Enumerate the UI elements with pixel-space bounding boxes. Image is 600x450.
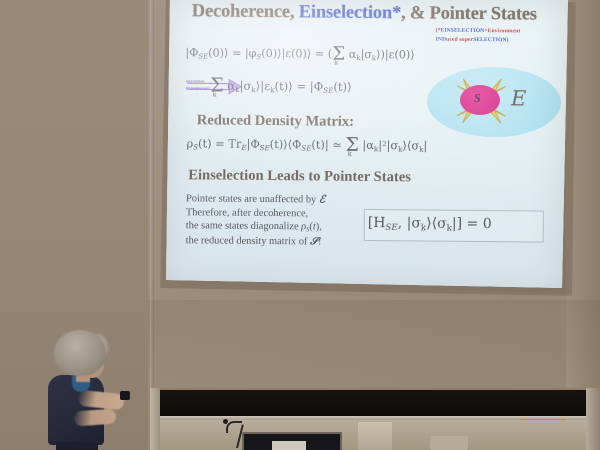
presenter-hair: [54, 330, 106, 376]
blackboard-right-post: [586, 388, 600, 450]
arrow-label-interaction: Interaction: [186, 79, 204, 83]
blackboard-left-post: [150, 388, 160, 450]
podium-equipment: [430, 436, 468, 450]
presentation-slide: Decoherence, Einselection*, & Pointer St…: [163, 0, 568, 294]
presenter-legs: [56, 442, 98, 450]
projection-screen: Decoherence, Einselection*, & Pointer St…: [166, 0, 568, 290]
heading-einselection-pointer-states: Einselection Leads to Pointer States: [188, 167, 411, 186]
wall-shadow: [148, 300, 600, 390]
microphone-head: [223, 419, 228, 424]
title-einselection: Einselection*: [299, 2, 401, 23]
podium-pillar: [358, 422, 392, 450]
slide-body-text: Pointer states are unaffected by ℰ There…: [186, 192, 387, 250]
equation-reduced-density-matrix: ρS(t) = TrE|ΦSE(t)⟩⟨ΦSE(t)| ≃ Σk |αk|2|σ…: [186, 136, 427, 154]
arrow-label-entanglement: Entanglement: [186, 86, 210, 90]
slide-title: Decoherence, Einselection*, & Pointer St…: [192, 1, 552, 25]
title-part-1: Decoherence,: [192, 1, 299, 22]
presenter-clicker: [120, 391, 130, 400]
presenter-arm-far: [74, 409, 117, 427]
presenter: [34, 330, 144, 450]
podium-monitor-screen: [272, 441, 306, 450]
footnote-selection: SELECTION): [473, 37, 509, 43]
footnote-environment: =Environment: [484, 28, 520, 34]
lecture-photo: Decoherence, Einselection*, & Pointer St…: [0, 0, 600, 450]
footnote-uced-super: uced super: [446, 36, 473, 42]
footnote-ind: IND: [436, 36, 447, 42]
title-part-2: , & Pointer States: [401, 3, 537, 24]
title-footnote: (*EINSELECTION=Environment INDuced super…: [436, 27, 568, 46]
footnote-einselection: EINSELECTION: [441, 28, 485, 34]
system-label: S: [474, 91, 481, 106]
environment-label: E: [511, 86, 527, 110]
equation-initial-state: |ΦSE(0)⟩ = |φS(0)⟩|ε(0)⟩ = (Σk αk|σk⟩)|ε…: [185, 46, 414, 62]
equation-commutator: [HSE, |σk⟩⟨σk|] = 0: [368, 215, 492, 234]
system-environment-diagram: S E: [427, 67, 568, 140]
blackboard: [160, 390, 588, 418]
equation-entangled-state: Σk αk|σk⟩|εk(t)⟩ = |ΦSE(t)⟩: [210, 78, 352, 95]
heading-reduced-density-matrix: Reduced Density Matrix:: [197, 112, 354, 131]
body-line-4: the reduced density matrix of 𝒮!: [186, 234, 386, 250]
